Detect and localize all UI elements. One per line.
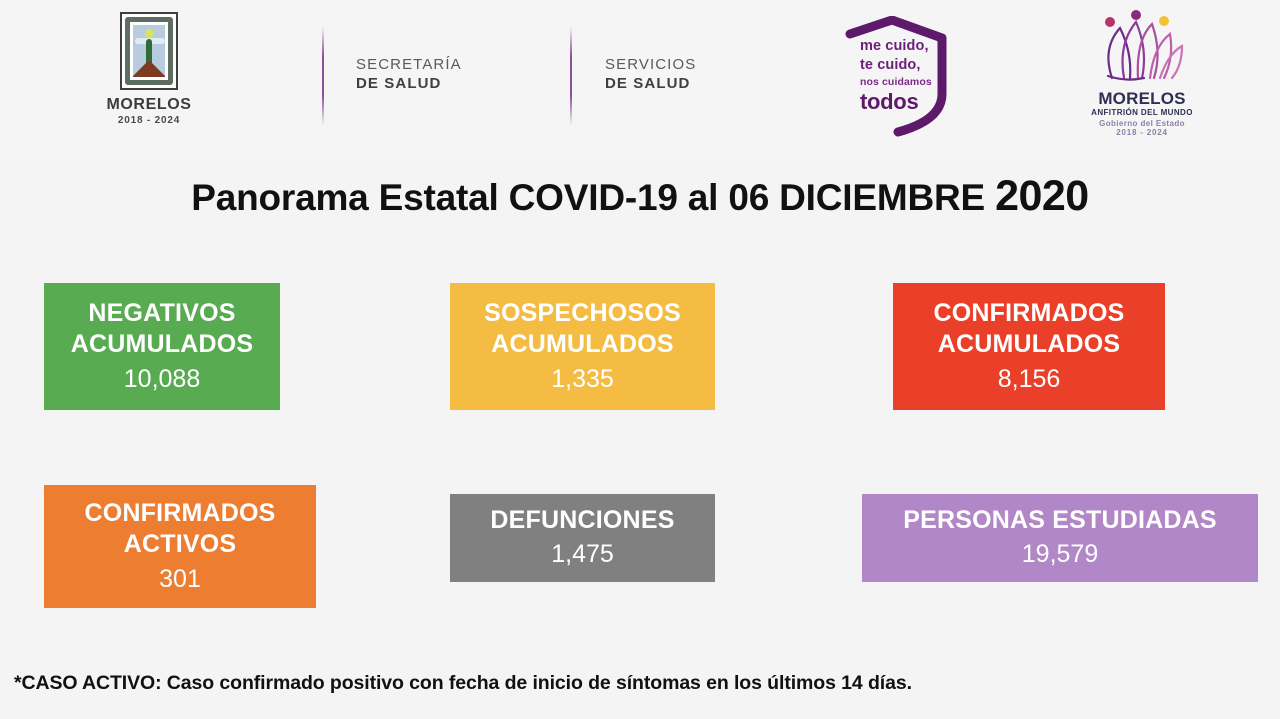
- secretaria-de-salud-logo: SECRETARÍA DE SALUD: [356, 55, 462, 93]
- stat-label-line1: CONFIRMADOS: [84, 498, 275, 529]
- morelos-coat-of-arms-icon: [120, 12, 178, 90]
- servicios-line1: SERVICIOS: [605, 55, 696, 74]
- servicios-de-salud-logo: SERVICIOS DE SALUD: [605, 55, 696, 93]
- stat-label-line1: SOSPECHOSOS: [484, 298, 681, 329]
- secretaria-line2: DE SALUD: [356, 74, 462, 93]
- coat-of-arms-name: MORELOS: [88, 96, 210, 114]
- header-divider-1: [322, 26, 324, 126]
- page-title: Panorama Estatal COVID-19 al 06 DICIEMBR…: [0, 172, 1280, 221]
- coat-inner-field: [133, 25, 165, 77]
- stat-value: 10,088: [124, 363, 200, 396]
- stat-value: 301: [159, 563, 201, 596]
- secretaria-line1: SECRETARÍA: [356, 55, 462, 74]
- header-logo-bar: MORELOS 2018 - 2024 SECRETARÍA DE SALUD …: [0, 0, 1280, 155]
- stat-label-line1: DEFUNCIONES: [490, 505, 674, 536]
- campaign-shield-logo: me cuido, te cuido, nos cuidamos todos: [826, 16, 956, 138]
- anfitrion-government: Gobierno del Estado: [1078, 119, 1206, 128]
- stat-card-defunciones: DEFUNCIONES 1,475: [450, 494, 715, 582]
- morelos-flower-icon: [1078, 8, 1206, 88]
- page-title-main: Panorama Estatal COVID-19 al 06 DICIEMBR…: [191, 177, 995, 218]
- campaign-line3: nos cuidamos: [860, 76, 956, 88]
- stat-card-confirmados-activos: CONFIRMADOS ACTIVOS 301: [44, 485, 316, 608]
- volcano-icon: [133, 60, 165, 77]
- covid-dashboard-page: MORELOS 2018 - 2024 SECRETARÍA DE SALUD …: [0, 0, 1280, 719]
- stat-label-line2: ACTIVOS: [124, 529, 237, 560]
- header-divider-2: [570, 26, 572, 126]
- stat-card-sospechosos-acumulados: SOSPECHOSOS ACUMULADOS 1,335: [450, 283, 715, 410]
- campaign-text-block: me cuido, te cuido, nos cuidamos todos: [860, 38, 956, 115]
- stat-label-line2: ACUMULADOS: [938, 329, 1121, 360]
- stat-label-line1: PERSONAS ESTUDIADAS: [903, 505, 1217, 536]
- servicios-line2: DE SALUD: [605, 74, 696, 93]
- campaign-line1: me cuido,: [860, 38, 956, 54]
- stat-label-line1: NEGATIVOS: [88, 298, 235, 329]
- campaign-line4: todos: [860, 89, 956, 115]
- stat-card-confirmados-acumulados: CONFIRMADOS ACUMULADOS 8,156: [893, 283, 1165, 410]
- page-title-year: 2020: [995, 172, 1089, 220]
- stat-label-line1: CONFIRMADOS: [933, 298, 1124, 329]
- sun-icon: [145, 29, 154, 38]
- stat-label-line2: ACUMULADOS: [71, 329, 254, 360]
- anfitrion-name: MORELOS: [1078, 89, 1206, 109]
- stat-value: 1,335: [551, 363, 614, 396]
- stat-card-negativos-acumulados: NEGATIVOS ACUMULADOS 10,088: [44, 283, 280, 410]
- stat-card-personas-estudiadas: PERSONAS ESTUDIADAS 19,579: [862, 494, 1258, 582]
- footnote-caso-activo: *CASO ACTIVO: Caso confirmado positivo c…: [14, 672, 912, 695]
- anfitrion-tagline: ANFITRIÓN DEL MUNDO: [1078, 108, 1206, 117]
- stat-label-line2: ACUMULADOS: [491, 329, 674, 360]
- stat-value: 1,475: [551, 538, 614, 571]
- stat-value: 19,579: [1022, 538, 1098, 571]
- campaign-line2: te cuido,: [860, 57, 956, 73]
- coat-of-arms-years: 2018 - 2024: [88, 115, 210, 126]
- anfitrion-years: 2018 - 2024: [1078, 128, 1206, 137]
- stat-value: 8,156: [998, 363, 1061, 396]
- morelos-anfitrion-logo: MORELOS ANFITRIÓN DEL MUNDO Gobierno del…: [1078, 8, 1206, 137]
- morelos-coat-of-arms-logo: MORELOS 2018 - 2024: [88, 12, 210, 126]
